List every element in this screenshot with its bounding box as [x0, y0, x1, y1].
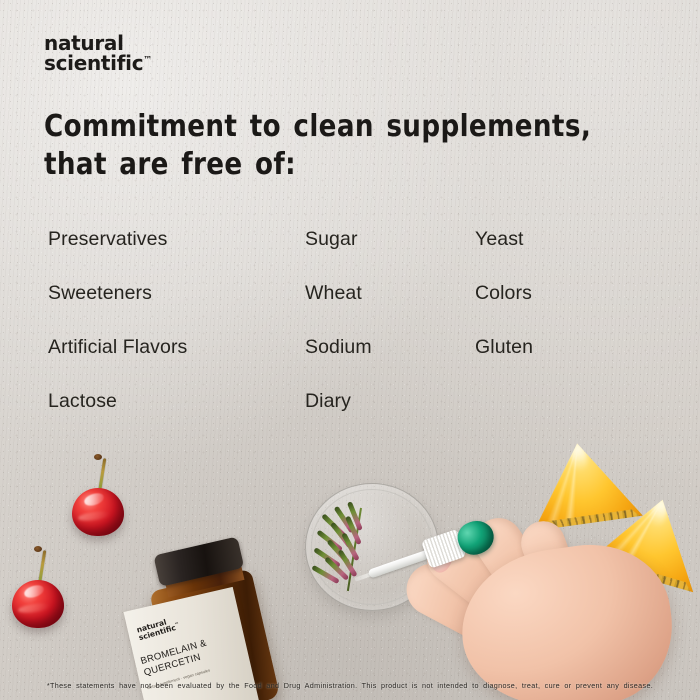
- brand-logo-line2: scientific™: [44, 53, 152, 73]
- free-of-item: Lactose: [48, 390, 305, 413]
- free-of-item: Preservatives: [48, 228, 305, 251]
- free-of-item: Gluten: [475, 336, 645, 359]
- page-title: Commitment to clean supplements, that ar…: [44, 108, 645, 185]
- bottle-label-brand: natural scientific™: [136, 615, 181, 642]
- brand-logo: natural scientific™: [44, 33, 152, 75]
- free-of-row: Artificial Flavors Sodium Gluten: [48, 336, 648, 390]
- free-of-row: Lactose Diary: [48, 390, 648, 444]
- free-of-item: Sweeteners: [48, 282, 305, 305]
- bottle-brand-trademark: ™: [174, 622, 180, 628]
- brand-logo-line2-text: scientific: [44, 51, 143, 75]
- headline-line-1: Commitment to clean supplements,: [44, 108, 645, 146]
- trademark-symbol: ™: [143, 56, 152, 66]
- cherry-stem-knob: [94, 454, 102, 460]
- fda-disclaimer: *These statements have not been evaluate…: [0, 681, 700, 690]
- free-of-row: Preservatives Sugar Yeast: [48, 228, 648, 282]
- free-of-item: Colors: [475, 282, 645, 305]
- free-of-list: Preservatives Sugar Yeast Sweeteners Whe…: [48, 228, 648, 444]
- cherry-berry: [72, 488, 124, 536]
- headline-line-2: that are free of:: [44, 146, 645, 184]
- free-of-item: Artificial Flavors: [48, 336, 305, 359]
- free-of-item: Yeast: [475, 228, 645, 251]
- free-of-item: Sugar: [305, 228, 475, 251]
- free-of-item: Diary: [305, 390, 475, 413]
- free-of-row: Sweeteners Wheat Colors: [48, 282, 648, 336]
- brand-logo-line1: natural: [44, 33, 152, 53]
- cherry-stem-knob: [34, 546, 42, 552]
- marketing-poster: natural scientific™ BROMELAIN & QUERCETI…: [0, 0, 700, 700]
- dropper-tube: [368, 549, 433, 579]
- free-of-item: Sodium: [305, 336, 475, 359]
- free-of-item: Wheat: [305, 282, 475, 305]
- cherry-berry: [12, 580, 64, 628]
- supplement-bottle: natural scientific™ BROMELAIN & QUERCETI…: [114, 536, 290, 700]
